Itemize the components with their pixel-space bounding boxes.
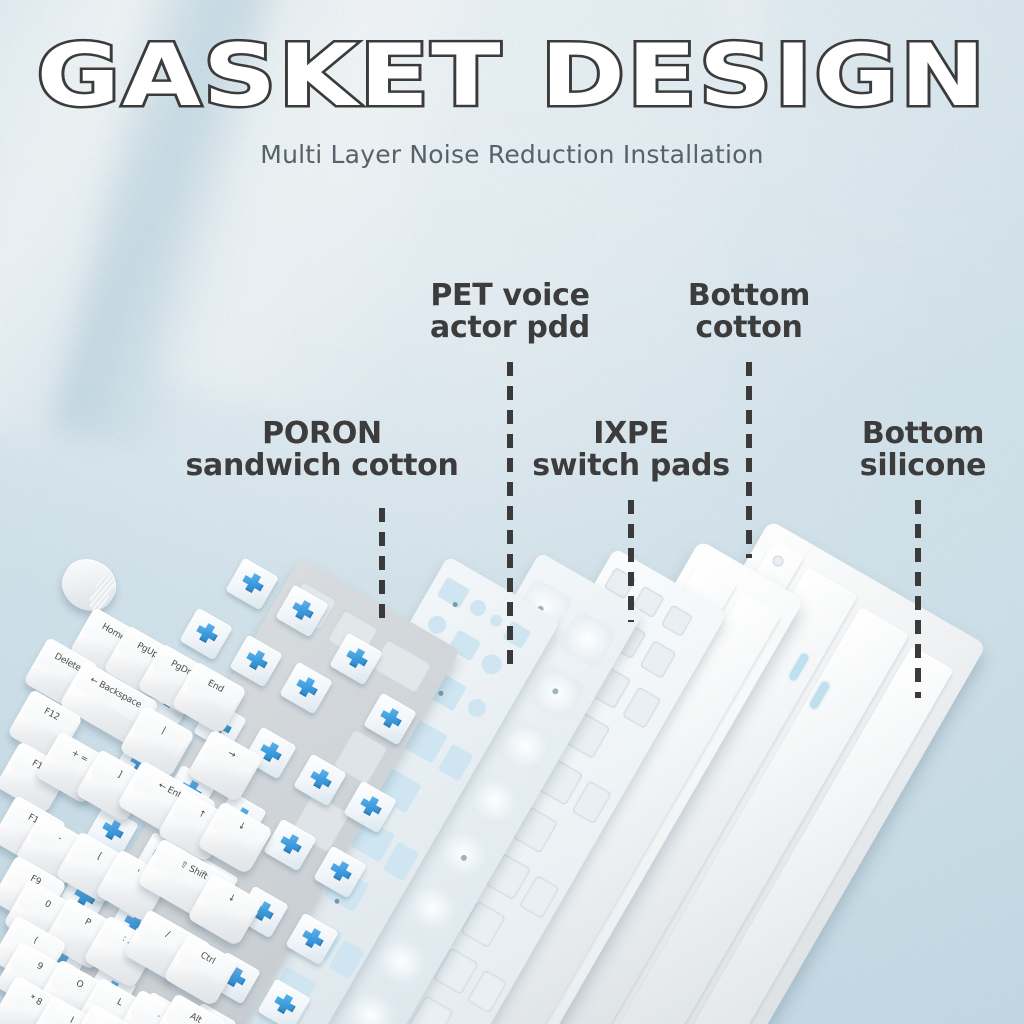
leader-line-bottom-silicone (915, 500, 921, 698)
rotary-knob (53, 550, 125, 620)
callout-poron-sandwich-cotton: PORON sandwich cotton (172, 418, 472, 483)
callout-pet-voice-actor-pdd: PET voice actor pdd (392, 280, 628, 345)
callout-ixpe-switch-pads: IXPE switch pads (520, 418, 742, 483)
page-subtitle: Multi Layer Noise Reduction Installation (0, 140, 1024, 169)
page-title: GASKET DESIGN (0, 34, 1024, 118)
leader-line-bottom-cotton (746, 362, 752, 558)
callout-bottom-cotton: Bottom cotton (652, 280, 846, 345)
leader-line-pet-voice-actor-pdd (507, 362, 513, 668)
infographic-canvas: Home PgUp PgDn End Delete ← Backspace F1… (0, 0, 1024, 1024)
leader-line-poron-sandwich-cotton (379, 508, 385, 620)
leader-line-ixpe-switch-pads (628, 500, 634, 622)
callout-bottom-silicone: Bottom silicone (828, 418, 1018, 483)
header: GASKET DESIGN Multi Layer Noise Reductio… (0, 0, 1024, 169)
